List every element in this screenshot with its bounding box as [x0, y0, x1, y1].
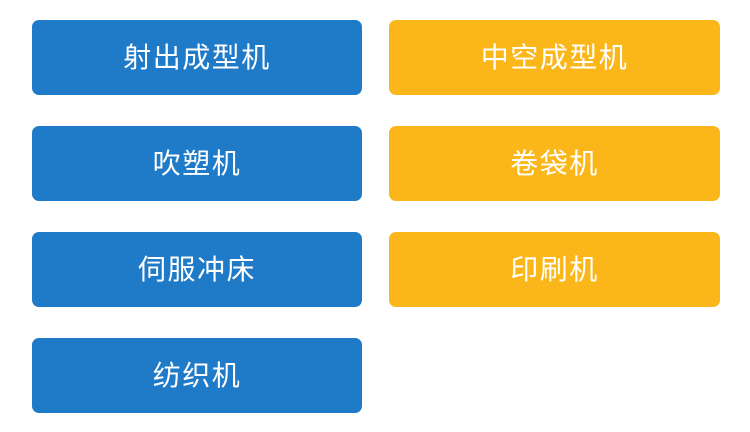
category-chip-injection-molding-machine[interactable]: 射出成型机 — [32, 20, 362, 95]
category-chip-label: 伺服冲床 — [138, 256, 256, 284]
category-chip-hollow-molding-machine[interactable]: 中空成型机 — [389, 20, 720, 95]
machine-category-board: 射出成型机 吹塑机 伺服冲床 纺织机 中空成型机 卷袋机 印刷机 — [0, 0, 750, 432]
category-column-blue: 射出成型机 吹塑机 伺服冲床 纺织机 — [32, 20, 362, 413]
category-chip-printing-machine[interactable]: 印刷机 — [389, 232, 720, 307]
category-chip-label: 射出成型机 — [123, 44, 271, 72]
category-chip-label: 印刷机 — [510, 256, 599, 284]
category-chip-label: 纺织机 — [153, 362, 242, 390]
category-chip-bag-rolling-machine[interactable]: 卷袋机 — [389, 126, 720, 201]
category-chip-label: 中空成型机 — [481, 44, 629, 72]
category-chip-label: 吹塑机 — [153, 150, 242, 178]
category-chip-servo-punch-press[interactable]: 伺服冲床 — [32, 232, 362, 307]
category-chip-textile-machine[interactable]: 纺织机 — [32, 338, 362, 413]
category-column-orange: 中空成型机 卷袋机 印刷机 — [389, 20, 720, 307]
category-chip-label: 卷袋机 — [510, 150, 599, 178]
category-chip-blow-molding-machine[interactable]: 吹塑机 — [32, 126, 362, 201]
